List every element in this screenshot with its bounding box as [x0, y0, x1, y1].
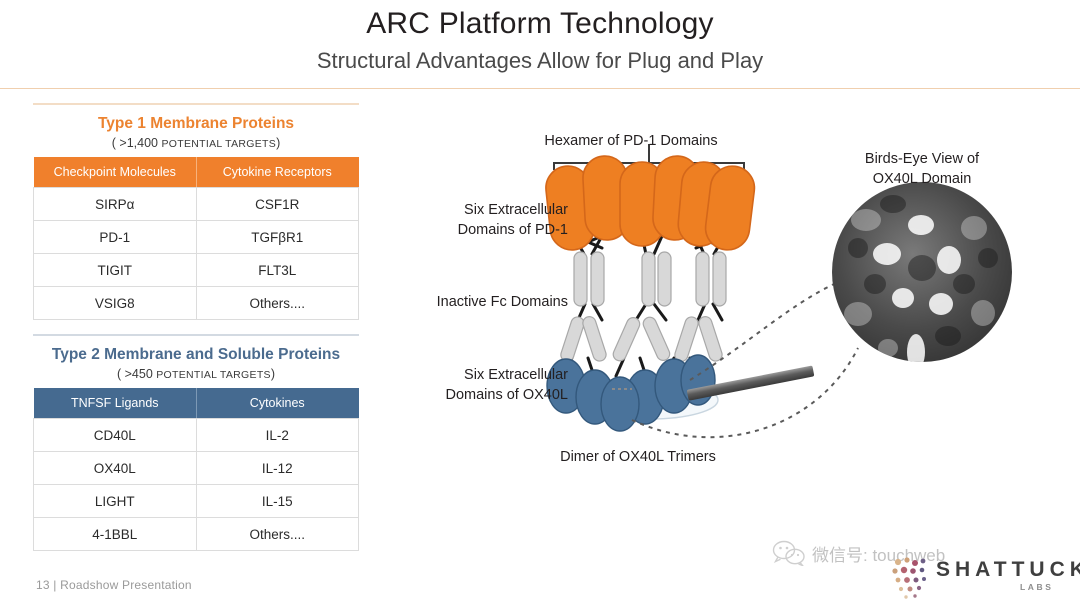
- table-row: LIGHT IL-15: [34, 485, 359, 518]
- panel-2-subtitle-caps: POTENTIAL TARGETS: [156, 369, 271, 381]
- cell: TGFβR1: [196, 221, 359, 254]
- column-header-tnfsf-ligands: TNFSF Ligands: [34, 388, 197, 419]
- cell: SIRPα: [34, 188, 197, 221]
- table-row: OX40L IL-12: [34, 452, 359, 485]
- logo-sub-wordmark: LABS: [1020, 582, 1054, 592]
- cell: Others....: [196, 518, 359, 551]
- logo-wordmark: SHATTUCK: [936, 558, 1080, 582]
- table-header-row: Checkpoint Molecules Cytokine Receptors: [34, 157, 359, 188]
- table-row: CD40L IL-2: [34, 419, 359, 452]
- slide-canvas: ARC Platform Technology Structural Advan…: [0, 0, 1080, 610]
- cell: CD40L: [34, 419, 197, 452]
- page-title: ARC Platform Technology: [0, 6, 1080, 41]
- label-six-extracellular-ox40l: Six Extracellular Domains of OX40L: [388, 366, 568, 405]
- label-dimer-ox40l-trimers: Dimer of OX40L Trimers: [508, 448, 768, 468]
- panel-2-rule: [33, 334, 359, 336]
- column-header-cytokines: Cytokines: [196, 388, 359, 419]
- table-type-1: Checkpoint Molecules Cytokine Receptors …: [33, 157, 359, 320]
- ox40l-domain: [601, 377, 639, 431]
- page-subtitle: Structural Advantages Allow for Plug and…: [0, 48, 1080, 74]
- cell: TIGIT: [34, 254, 197, 287]
- cell: OX40L: [34, 452, 197, 485]
- table-header-row: TNFSF Ligands Cytokines: [34, 388, 359, 419]
- cell: Others....: [196, 287, 359, 320]
- panel-type-1: Type 1 Membrane Proteins ( >1,400 POTENT…: [33, 103, 359, 320]
- panel-2-heading: Type 2 Membrane and Soluble Proteins: [33, 345, 359, 364]
- table-type-2: TNFSF Ligands Cytokines CD40L IL-2 OX40L…: [33, 388, 359, 551]
- cell: CSF1R: [196, 188, 359, 221]
- panel-1-rule: [33, 103, 359, 105]
- arc-molecule-diagram: Hexamer of PD-1 Domains Six Extracellula…: [388, 108, 1080, 508]
- panel-2-subtitle: ( >450 POTENTIAL TARGETS): [33, 367, 359, 381]
- deck-name: Roadshow Presentation: [60, 578, 192, 592]
- label-inactive-fc-domains: Inactive Fc Domains: [388, 293, 568, 313]
- panel-1-subtitle-suffix: ): [276, 136, 280, 150]
- cell: PD-1: [34, 221, 197, 254]
- title-block: ARC Platform Technology Structural Advan…: [0, 6, 1080, 75]
- footer-separator: |: [53, 578, 56, 592]
- cell: LIGHT: [34, 485, 197, 518]
- cell: IL-2: [196, 419, 359, 452]
- cell: IL-12: [196, 452, 359, 485]
- cell: FLT3L: [196, 254, 359, 287]
- wechat-icon: [772, 540, 806, 566]
- label-birds-eye-view: Birds-Eye View of OX40L Domain: [812, 150, 1032, 189]
- panel-2-subtitle-prefix: ( >450: [117, 367, 156, 381]
- pd1-domain-group: [544, 155, 757, 252]
- cell: 4-1BBL: [34, 518, 197, 551]
- column-header-checkpoint-molecules: Checkpoint Molecules: [34, 157, 197, 188]
- label-hexamer-pd1: Hexamer of PD-1 Domains: [506, 132, 756, 152]
- table-row: 4-1BBL Others....: [34, 518, 359, 551]
- cell: VSIG8: [34, 287, 197, 320]
- label-six-extracellular-pd1: Six Extracellular Domains of PD-1: [388, 201, 568, 240]
- panel-type-2: Type 2 Membrane and Soluble Proteins ( >…: [33, 334, 359, 551]
- table-row: TIGIT FLT3L: [34, 254, 359, 287]
- dot-grid-icon: [888, 554, 934, 600]
- footer: 13 | Roadshow Presentation: [36, 578, 192, 592]
- em-inset: [832, 182, 1012, 370]
- panel-1-subtitle-caps: POTENTIAL TARGETS: [161, 138, 276, 150]
- shattuck-logo: SHATTUCK LABS: [888, 552, 1078, 604]
- column-header-cytokine-receptors: Cytokine Receptors: [196, 157, 359, 188]
- panel-1-heading: Type 1 Membrane Proteins: [33, 114, 359, 133]
- panel-1-subtitle: ( >1,400 POTENTIAL TARGETS): [33, 136, 359, 150]
- panel-2-subtitle-suffix: ): [271, 367, 275, 381]
- header-divider: [0, 88, 1080, 89]
- table-row: PD-1 TGFβR1: [34, 221, 359, 254]
- panel-1-subtitle-prefix: ( >1,400: [112, 136, 162, 150]
- cell: IL-15: [196, 485, 359, 518]
- table-row: SIRPα CSF1R: [34, 188, 359, 221]
- table-row: VSIG8 Others....: [34, 287, 359, 320]
- page-number: 13: [36, 578, 50, 592]
